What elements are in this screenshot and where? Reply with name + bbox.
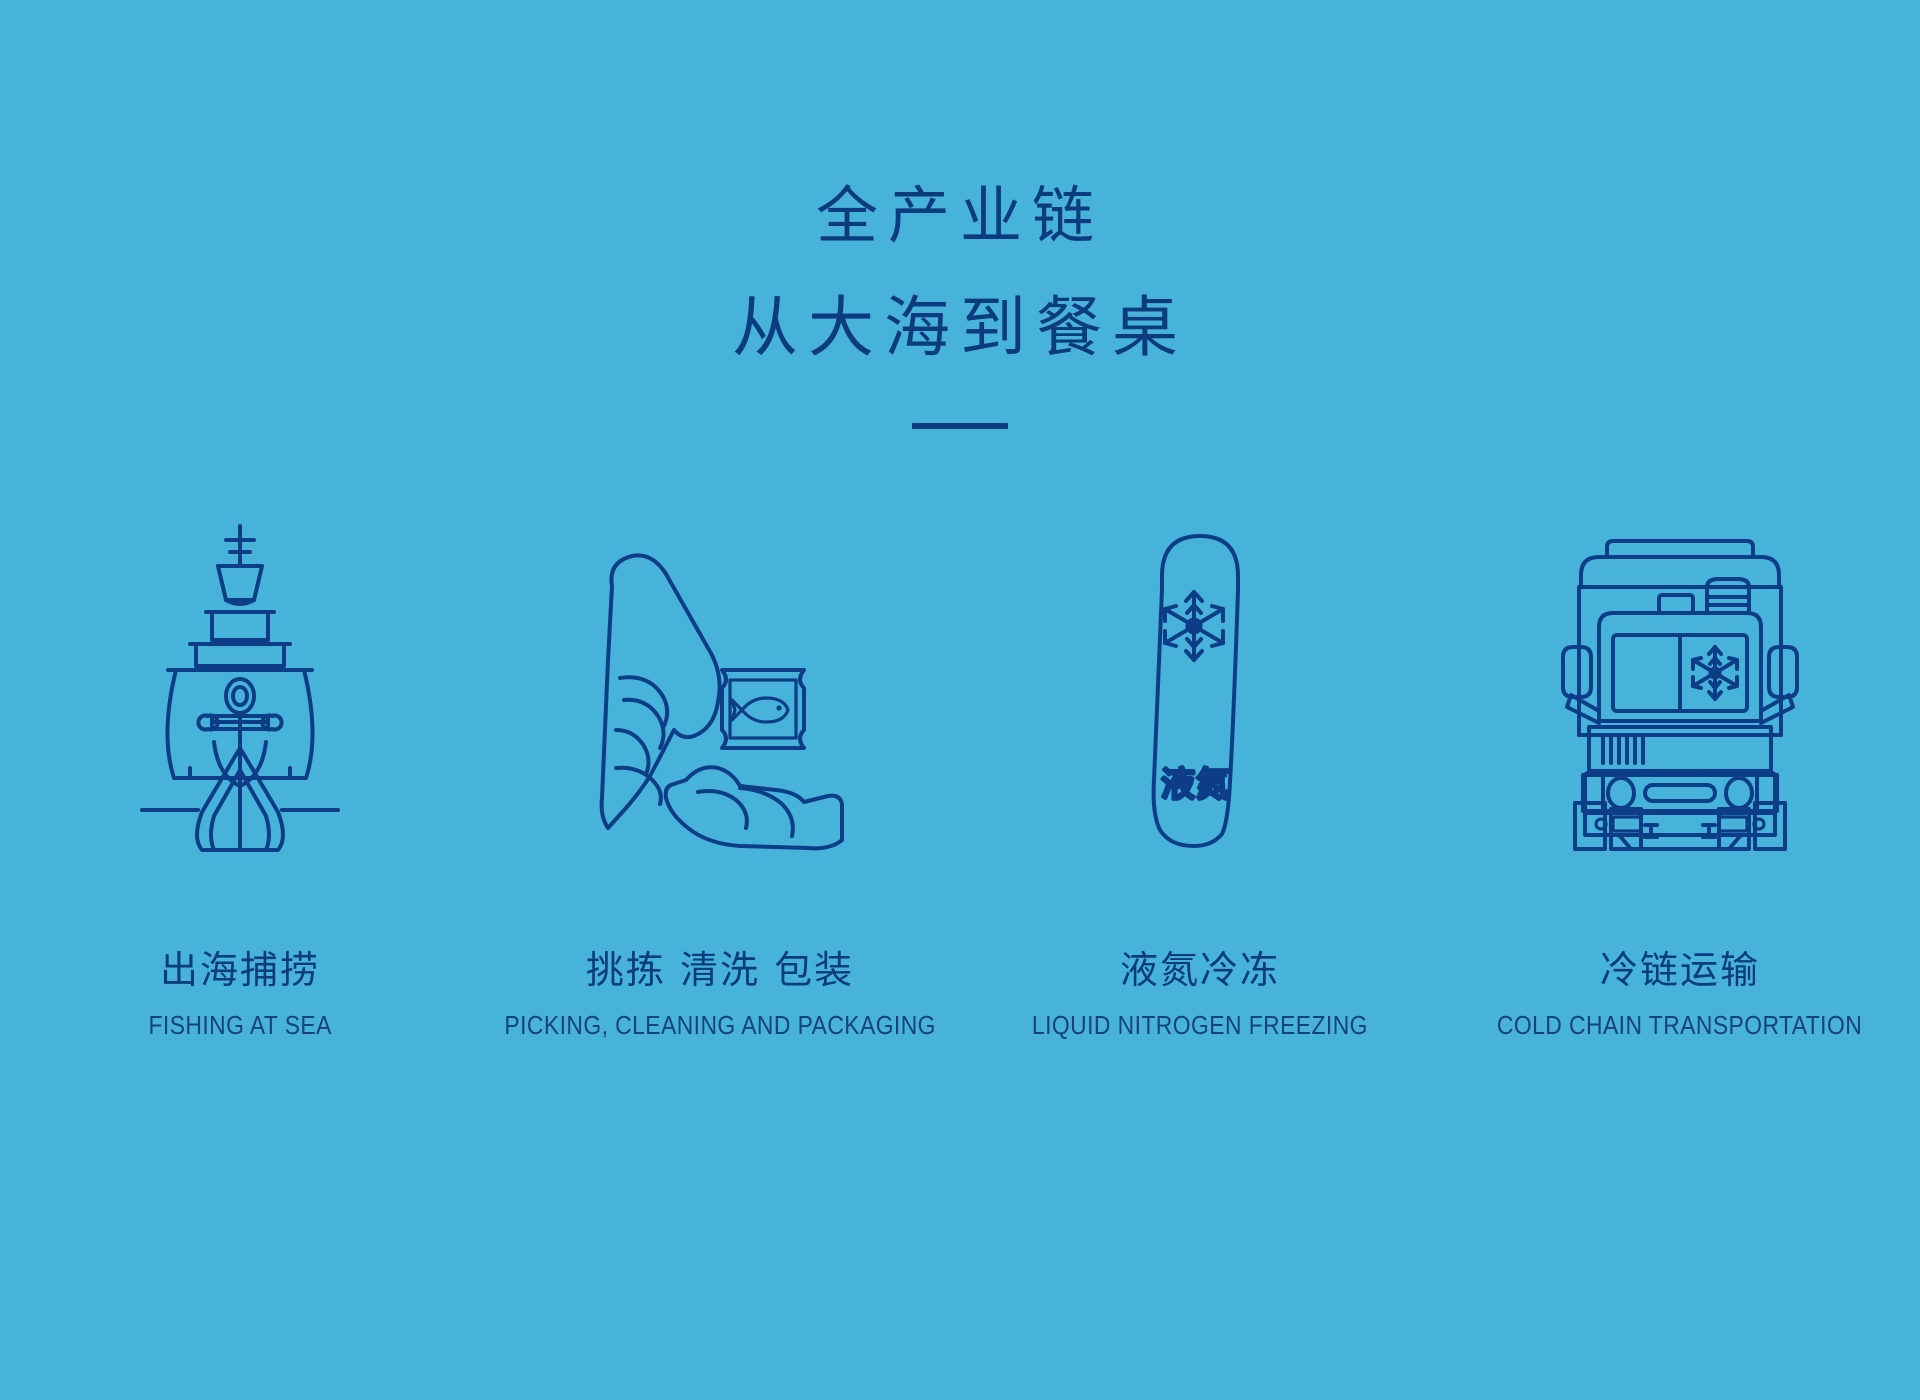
- hands-with-packaged-fish-icon: [590, 520, 850, 850]
- header: 全产业链 从大海到餐桌: [0, 0, 1920, 429]
- step-label-en: FISHING AT SEA: [148, 1010, 331, 1041]
- step-label-en: PICKING, CLEANING AND PACKAGING: [504, 1010, 936, 1041]
- step-label-en: LIQUID NITROGEN FREEZING: [1032, 1010, 1368, 1041]
- title-divider: [912, 423, 1008, 429]
- step-labels: 挑拣 清洗 包装 PICKING, CLEANING AND PACKAGING: [475, 950, 965, 1041]
- step-cold-chain-transportation[interactable]: 冷链运输 COLD CHAIN TRANSPORTATION: [1440, 520, 1920, 1041]
- step-picking-cleaning-packaging[interactable]: 挑拣 清洗 包装 PICKING, CLEANING AND PACKAGING: [480, 520, 960, 1041]
- refrigerated-truck-icon: [1555, 520, 1805, 850]
- step-label-cn: 液氮冷冻: [1009, 950, 1391, 992]
- step-label-cn: 冷链运输: [1472, 950, 1887, 992]
- liquid-nitrogen-tank-icon: 液氮: [1130, 520, 1270, 850]
- step-liquid-nitrogen-freezing[interactable]: 液氮 液氮冷冻 LIQUID NITROGEN FREEZING: [960, 520, 1440, 1041]
- step-labels: 出海捕捞 FISHING AT SEA: [136, 950, 344, 1041]
- fishing-boat-icon: [140, 520, 340, 850]
- process-steps: 出海捕捞 FISHING AT SEA: [0, 520, 1920, 1041]
- tank-label-text: 液氮: [1161, 765, 1231, 805]
- step-labels: 液氮冷冻 LIQUID NITROGEN FREEZING: [1009, 950, 1391, 1041]
- page-title-line-2: 从大海到餐桌: [0, 295, 1920, 361]
- page-root: { "theme": { "background": "#47b3da", "i…: [0, 0, 1920, 1400]
- page-title-line-1: 全产业链: [0, 185, 1920, 247]
- step-label-cn: 出海捕捞: [136, 950, 344, 992]
- step-label-cn: 挑拣 清洗 包装: [475, 950, 965, 992]
- step-labels: 冷链运输 COLD CHAIN TRANSPORTATION: [1472, 950, 1887, 1041]
- step-fishing-at-sea[interactable]: 出海捕捞 FISHING AT SEA: [0, 520, 480, 1041]
- step-label-en: COLD CHAIN TRANSPORTATION: [1497, 1010, 1862, 1041]
